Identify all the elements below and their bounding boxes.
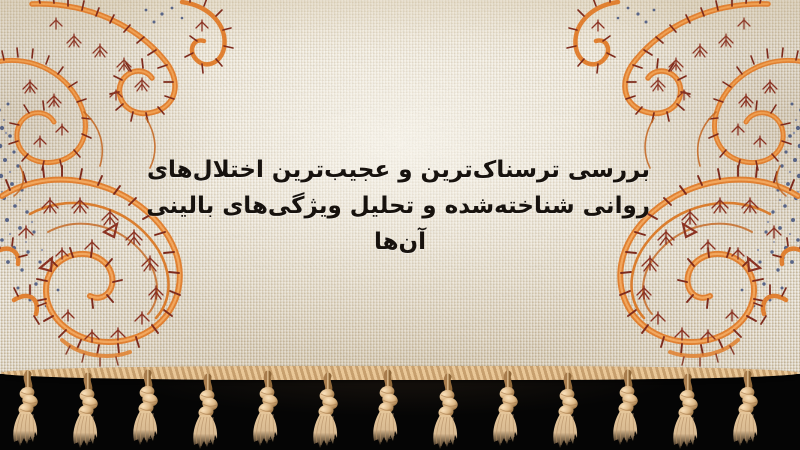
tassel-item: [13, 373, 759, 449]
title-line-2: روانی شناخته‌شده و تحلیل ویژگی‌های بالین…: [150, 188, 650, 224]
title-line-3: آن‌ها: [150, 224, 650, 260]
title-line-1: بررسی ترسناک‌ترین و عجیب‌ترین اختلال‌های: [150, 152, 650, 188]
title-card-stage: بررسی ترسناک‌ترین و عجیب‌ترین اختلال‌های…: [0, 0, 800, 450]
page-title: بررسی ترسناک‌ترین و عجیب‌ترین اختلال‌های…: [0, 152, 800, 260]
tassel-fringe: [0, 366, 800, 450]
